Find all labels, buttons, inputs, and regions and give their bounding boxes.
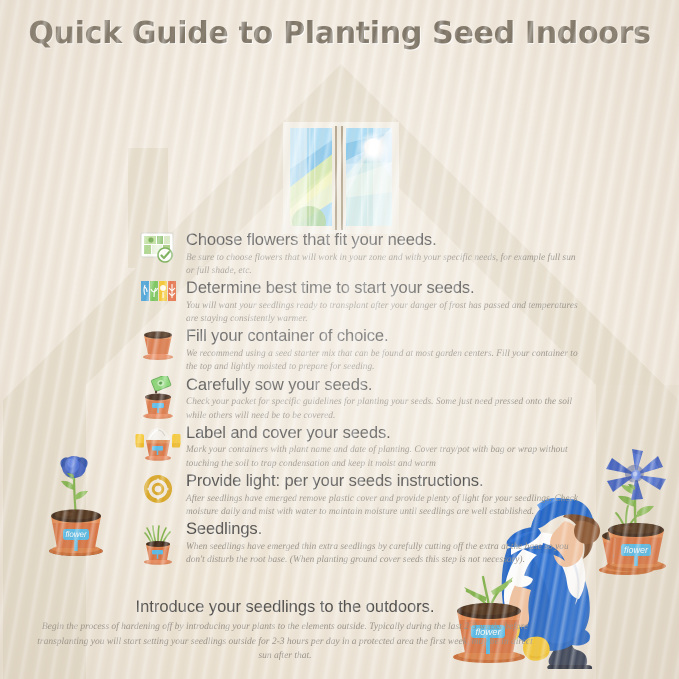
step-body: After seedlings have emerged remove plas… <box>186 493 584 519</box>
filled-pot-icon <box>134 327 182 361</box>
page-title: Quick Guide to Planting Seed Indoors <box>0 16 679 51</box>
step-body: When seedlings have emerged thin extra s… <box>186 541 584 567</box>
step-item: Carefully sow your seeds. Check your pac… <box>134 376 584 423</box>
step-body: Be sure to choose flowers that will work… <box>186 252 584 278</box>
closing-heading: Introduce your seedlings to the outdoors… <box>30 598 540 618</box>
steps-list: Choose flowers that fit your needs. Be s… <box>134 231 584 568</box>
step-body: Check your packet for specific guideline… <box>186 396 584 422</box>
blue-rosebud-potted-plant: flower <box>36 410 116 565</box>
step-item: Choose flowers that fit your needs. Be s… <box>134 231 584 278</box>
step-heading: Provide light: per your seeds instructio… <box>186 472 584 492</box>
step-heading: Fill your container of choice. <box>186 327 584 347</box>
seasons-calendar-icon <box>134 279 182 303</box>
step-body: Mark your containers with plant name and… <box>186 444 584 470</box>
sunny-window-illustration <box>283 118 399 238</box>
step-body: You will want your seedlings ready to tr… <box>186 300 584 326</box>
sun-light-icon <box>134 472 182 506</box>
step-heading: Choose flowers that fit your needs. <box>186 231 584 251</box>
step-item: Provide light: per your seeds instructio… <box>134 472 584 519</box>
step-heading: Label and cover your seeds. <box>186 424 584 444</box>
seed-packet-sowing-icon <box>134 376 182 420</box>
seedlings-pot-icon <box>134 520 182 566</box>
step-heading: Carefully sow your seeds. <box>186 376 584 396</box>
covered-pot-gloves-icon <box>134 424 182 462</box>
closing-block: Introduce your seedlings to the outdoors… <box>30 598 540 664</box>
step-heading: Determine best time to start your seeds. <box>186 279 584 299</box>
step-body: We recommend using a seed starter mix th… <box>186 348 584 374</box>
seed-catalog-icon <box>134 231 182 265</box>
step-item: Fill your container of choice. We recomm… <box>134 327 584 374</box>
step-item: Seedlings. When seedlings have emerged t… <box>134 520 584 567</box>
closing-body: Begin the process of hardening off by in… <box>30 620 540 664</box>
step-heading: Seedlings. <box>186 520 584 540</box>
step-item: Label and cover your seeds. Mark your co… <box>134 424 584 471</box>
pot-label-text: flower <box>65 530 87 539</box>
infographic-poster: Quick Guide to Planting Seed Indoors <box>0 0 679 679</box>
step-item: Determine best time to start your seeds.… <box>134 279 584 326</box>
